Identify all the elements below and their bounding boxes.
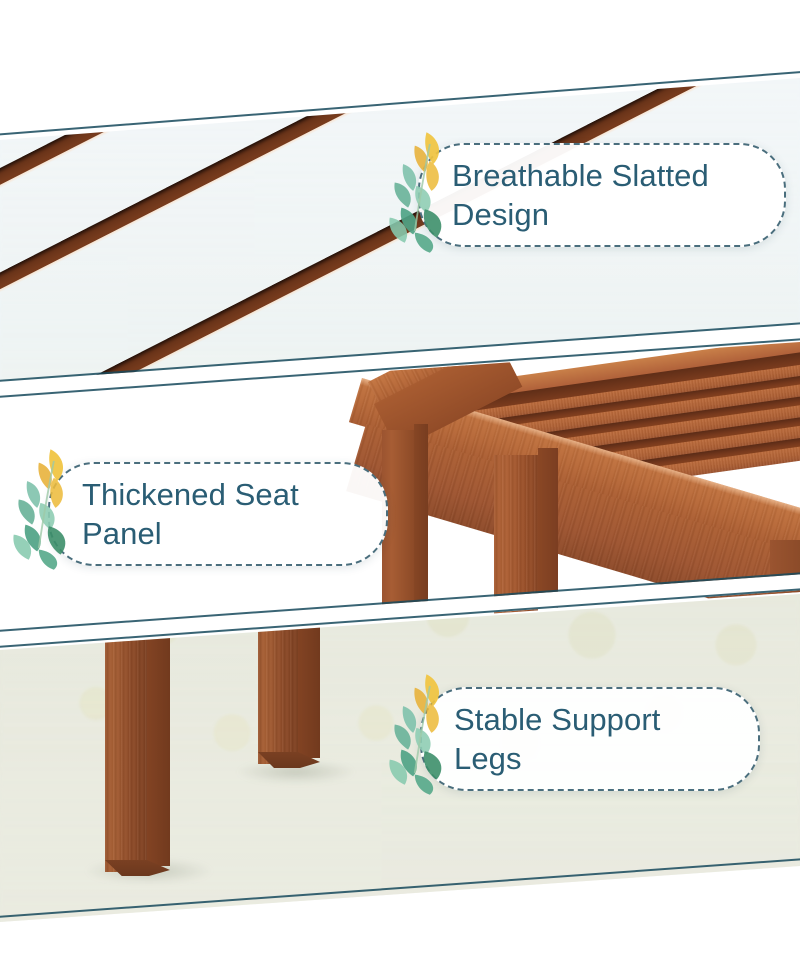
label-stable-support-legs: Stable Support Legs — [420, 687, 760, 791]
label-text-1: Breathable Slatted Design — [452, 156, 709, 234]
label-thickened-seat-panel: Thickened Seat Panel — [48, 462, 388, 566]
label-text-2: Thickened Seat Panel — [82, 475, 299, 553]
label-text-3: Stable Support Legs — [454, 700, 661, 778]
label-breathable-slatted-design: Breathable Slatted Design — [418, 143, 786, 247]
infographic-stage: Breathable Slatted Design Thickened Seat… — [0, 0, 800, 977]
